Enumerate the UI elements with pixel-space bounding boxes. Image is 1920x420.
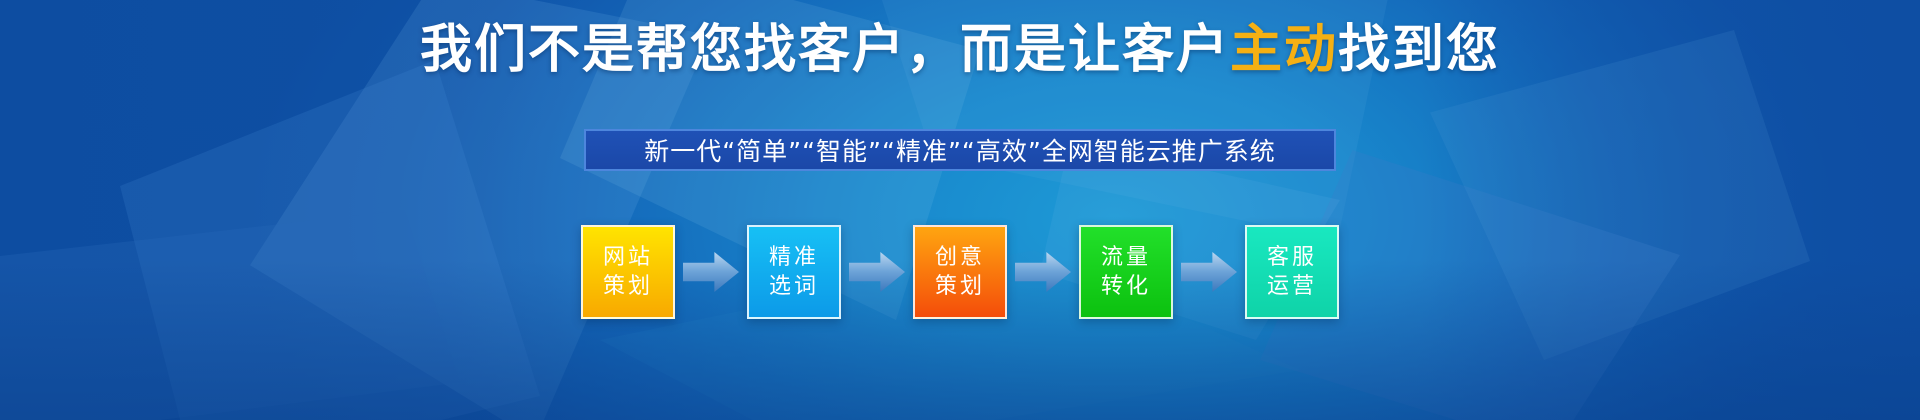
promo-banner: 我们不是帮您找客户，而是让客户主动找到您 新一代“简单”“智能”“精准”“高效”…	[0, 0, 1920, 420]
banner-headline: 我们不是帮您找客户，而是让客户主动找到您	[0, 22, 1920, 79]
arrow-right-icon	[1181, 252, 1237, 292]
flow-step-line1: 网站	[603, 243, 653, 272]
flow-step-customer-service[interactable]: 客服 运营	[1245, 225, 1339, 319]
headline-part-1: 我们不是帮您找客户，而是让客户	[420, 20, 1230, 80]
flow-arrow-1	[675, 252, 747, 292]
flow-step-keyword-selection[interactable]: 精准 选词	[747, 225, 841, 319]
flow-arrow-2	[841, 252, 913, 292]
flow-step-line2: 选词	[769, 272, 819, 301]
flow-step-line2: 运营	[1267, 272, 1317, 301]
flow-step-traffic-conversion[interactable]: 流量 转化	[1079, 225, 1173, 319]
flow-arrow-4	[1173, 252, 1245, 292]
arrow-right-icon	[1015, 252, 1071, 292]
flow-step-line1: 流量	[1101, 243, 1151, 272]
subtitle-bar: 新一代“简单”“智能”“精准”“高效”全网智能云推广系统	[584, 129, 1336, 171]
flow-arrow-3	[1007, 252, 1079, 292]
flow-step-line2: 转化	[1101, 272, 1151, 301]
arrow-right-icon	[683, 252, 739, 292]
headline-accent: 主动	[1230, 20, 1338, 80]
arrow-right-icon	[849, 252, 905, 292]
flow-step-creative-planning[interactable]: 创意 策划	[913, 225, 1007, 319]
flow-step-line1: 创意	[935, 243, 985, 272]
flow-step-line1: 客服	[1267, 243, 1317, 272]
flow-step-website-planning[interactable]: 网站 策划	[581, 225, 675, 319]
headline-part-2: 找到您	[1338, 20, 1500, 80]
flow-step-line2: 策划	[603, 272, 653, 301]
process-flow: 网站 策划 精准 选词 创意 策划 流量 转化 客服 运营	[581, 225, 1339, 319]
flow-step-line1: 精准	[769, 243, 819, 272]
subtitle-text: 新一代“简单”“智能”“精准”“高效”全网智能云推广系统	[644, 132, 1276, 168]
flow-step-line2: 策划	[935, 272, 985, 301]
